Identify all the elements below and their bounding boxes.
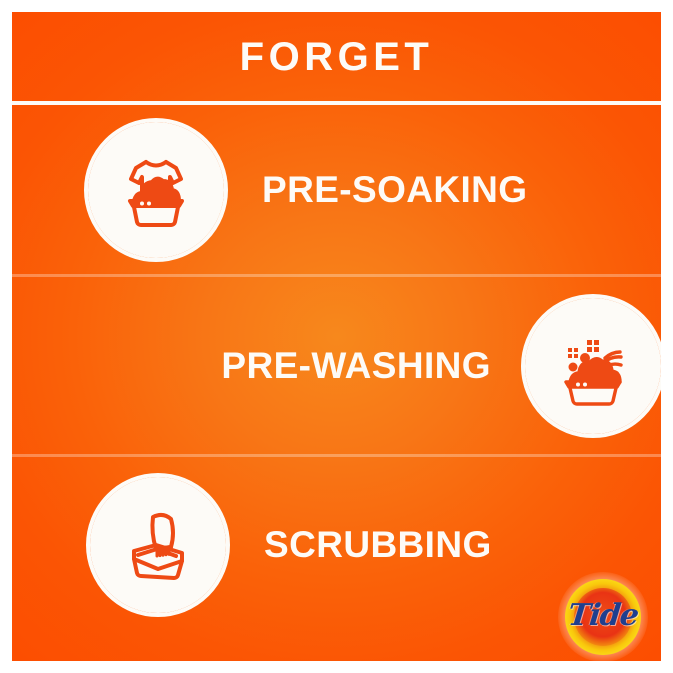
- feature-label-pre-washing: PRE-WASHING: [221, 347, 491, 384]
- badge-pre-soaking: [88, 122, 224, 258]
- badge-pre-washing: [525, 298, 661, 434]
- tide-logo: Tide: [558, 572, 648, 661]
- page-title: FORGET: [240, 37, 434, 77]
- poster-canvas: FORGET: [12, 12, 661, 661]
- shirt-soaking-in-basin-icon: [94, 128, 218, 252]
- header-band: FORGET: [12, 12, 661, 101]
- tide-wordmark: Tide: [556, 601, 649, 631]
- badge-scrubbing: [90, 477, 226, 613]
- feature-row-pre-washing: PRE-WASHING: [12, 277, 661, 454]
- feature-label-pre-soaking: PRE-SOAKING: [262, 171, 527, 208]
- feature-label-scrubbing: SCRUBBING: [264, 526, 492, 563]
- scrub-brush-over-basin-icon: [96, 483, 220, 607]
- feature-row-pre-soaking: PRE-SOAKING: [12, 105, 661, 274]
- hand-washing-in-sudsy-basin-icon: [531, 304, 655, 428]
